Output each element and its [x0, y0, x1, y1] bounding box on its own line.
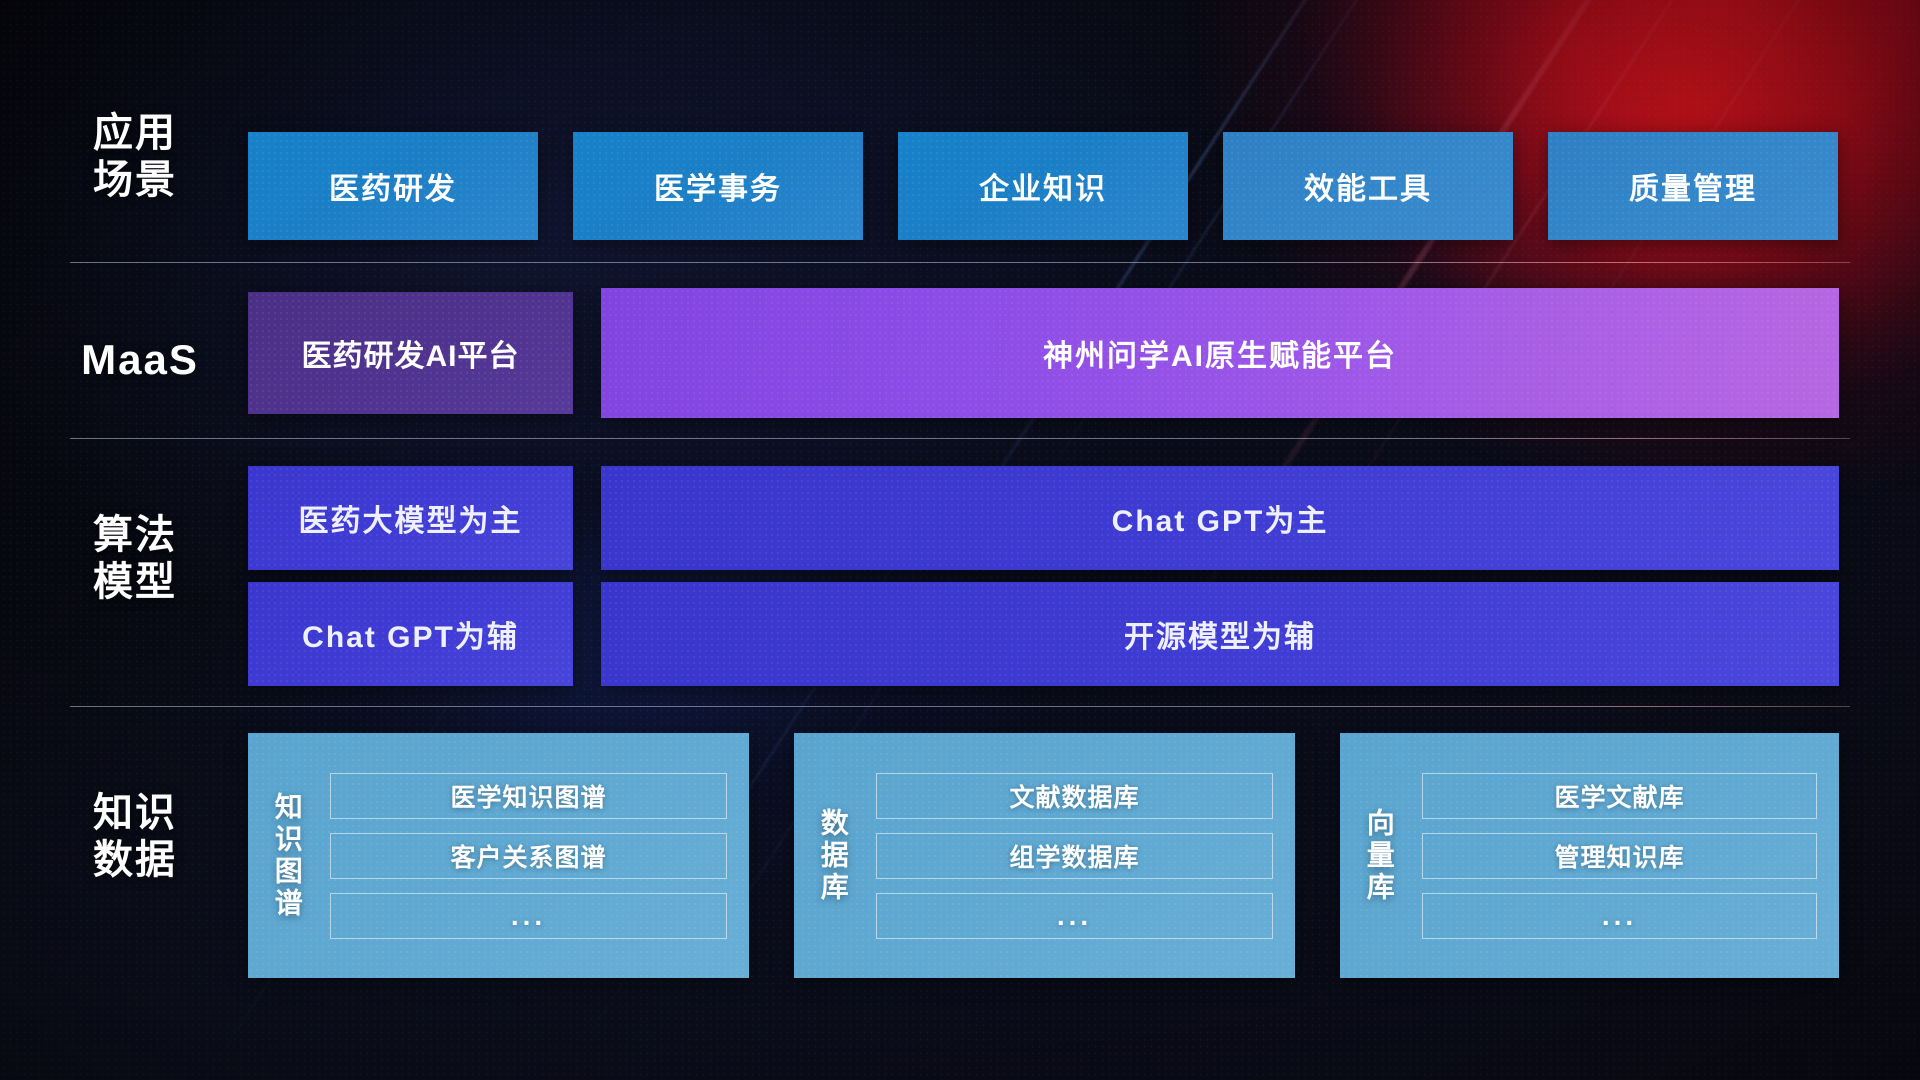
- row-label-line: MaaS: [55, 335, 225, 385]
- row-label-line: 知识: [60, 790, 210, 837]
- app-box-quality-management[interactable]: 质量管理: [1548, 132, 1838, 240]
- algo-box-pharma-llm-primary[interactable]: 医药大模型为主: [248, 466, 573, 570]
- algo-box-chatgpt-secondary[interactable]: Chat GPT为辅: [248, 582, 573, 686]
- divider-1: [70, 262, 1850, 263]
- row-label-line: 数据: [60, 837, 210, 884]
- knowledge-card-title: 知识图谱: [248, 733, 326, 978]
- algo-box-label: 医药大模型为主: [299, 496, 523, 540]
- maas-box-label: 神州问学AI原生赋能平台: [1043, 331, 1397, 375]
- knowledge-chip[interactable]: 管理知识库: [1422, 833, 1817, 879]
- algo-box-opensource-secondary[interactable]: 开源模型为辅: [601, 582, 1839, 686]
- knowledge-chip-more[interactable]: ...: [1422, 893, 1817, 939]
- knowledge-card-title: 向量库: [1340, 733, 1418, 978]
- knowledge-card-chip-list: 医学知识图谱 客户关系图谱 ...: [326, 733, 749, 978]
- knowledge-card-chip-list: 文献数据库 组学数据库 ...: [872, 733, 1295, 978]
- app-box-medical-affairs[interactable]: 医学事务: [573, 132, 863, 240]
- algo-box-label: 开源模型为辅: [1124, 612, 1316, 656]
- app-box-enterprise-knowledge[interactable]: 企业知识: [898, 132, 1188, 240]
- architecture-diagram: 应用 场景 医药研发 医学事务 企业知识 效能工具 质量管理 MaaS 医药研发…: [0, 0, 1920, 1080]
- maas-box-shenzhou-wenxue-platform[interactable]: 神州问学AI原生赋能平台: [601, 288, 1839, 418]
- divider-2: [70, 438, 1850, 439]
- maas-box-pharma-ai-platform[interactable]: 医药研发AI平台: [248, 292, 573, 414]
- row-label-knowledge-data: 知识 数据: [60, 790, 210, 884]
- app-box-efficiency-tools[interactable]: 效能工具: [1223, 132, 1513, 240]
- app-box-label: 医学事务: [654, 164, 782, 208]
- knowledge-chip[interactable]: 医学文献库: [1422, 773, 1817, 819]
- row-label-line: 应用: [60, 110, 210, 157]
- algo-box-chatgpt-primary[interactable]: Chat GPT为主: [601, 466, 1839, 570]
- row-label-maas: MaaS: [55, 335, 225, 385]
- app-box-label: 质量管理: [1629, 164, 1757, 208]
- knowledge-card-chip-list: 医学文献库 管理知识库 ...: [1418, 733, 1839, 978]
- knowledge-chip[interactable]: 医学知识图谱: [330, 773, 727, 819]
- row-label-line: 算法: [60, 512, 210, 559]
- knowledge-card-database[interactable]: 数据库 文献数据库 组学数据库 ...: [794, 733, 1295, 978]
- knowledge-chip[interactable]: 客户关系图谱: [330, 833, 727, 879]
- app-box-pharma-rd[interactable]: 医药研发: [248, 132, 538, 240]
- app-box-label: 医药研发: [329, 164, 457, 208]
- knowledge-card-title: 数据库: [794, 733, 872, 978]
- row-label-line: 模型: [60, 559, 210, 606]
- knowledge-chip-more[interactable]: ...: [876, 893, 1273, 939]
- knowledge-chip-more[interactable]: ...: [330, 893, 727, 939]
- app-box-label: 效能工具: [1304, 164, 1432, 208]
- knowledge-chip[interactable]: 文献数据库: [876, 773, 1273, 819]
- row-label-line: 场景: [60, 157, 210, 204]
- row-label-algorithm-model: 算法 模型: [60, 512, 210, 606]
- maas-box-label: 医药研发AI平台: [302, 331, 520, 375]
- knowledge-card-vector-store[interactable]: 向量库 医学文献库 管理知识库 ...: [1340, 733, 1839, 978]
- algo-box-label: Chat GPT为辅: [302, 612, 519, 656]
- knowledge-card-knowledge-graph[interactable]: 知识图谱 医学知识图谱 客户关系图谱 ...: [248, 733, 749, 978]
- divider-3: [70, 706, 1850, 707]
- row-label-application-scenario: 应用 场景: [60, 110, 210, 204]
- knowledge-chip[interactable]: 组学数据库: [876, 833, 1273, 879]
- app-box-label: 企业知识: [979, 164, 1107, 208]
- algo-box-label: Chat GPT为主: [1112, 496, 1329, 540]
